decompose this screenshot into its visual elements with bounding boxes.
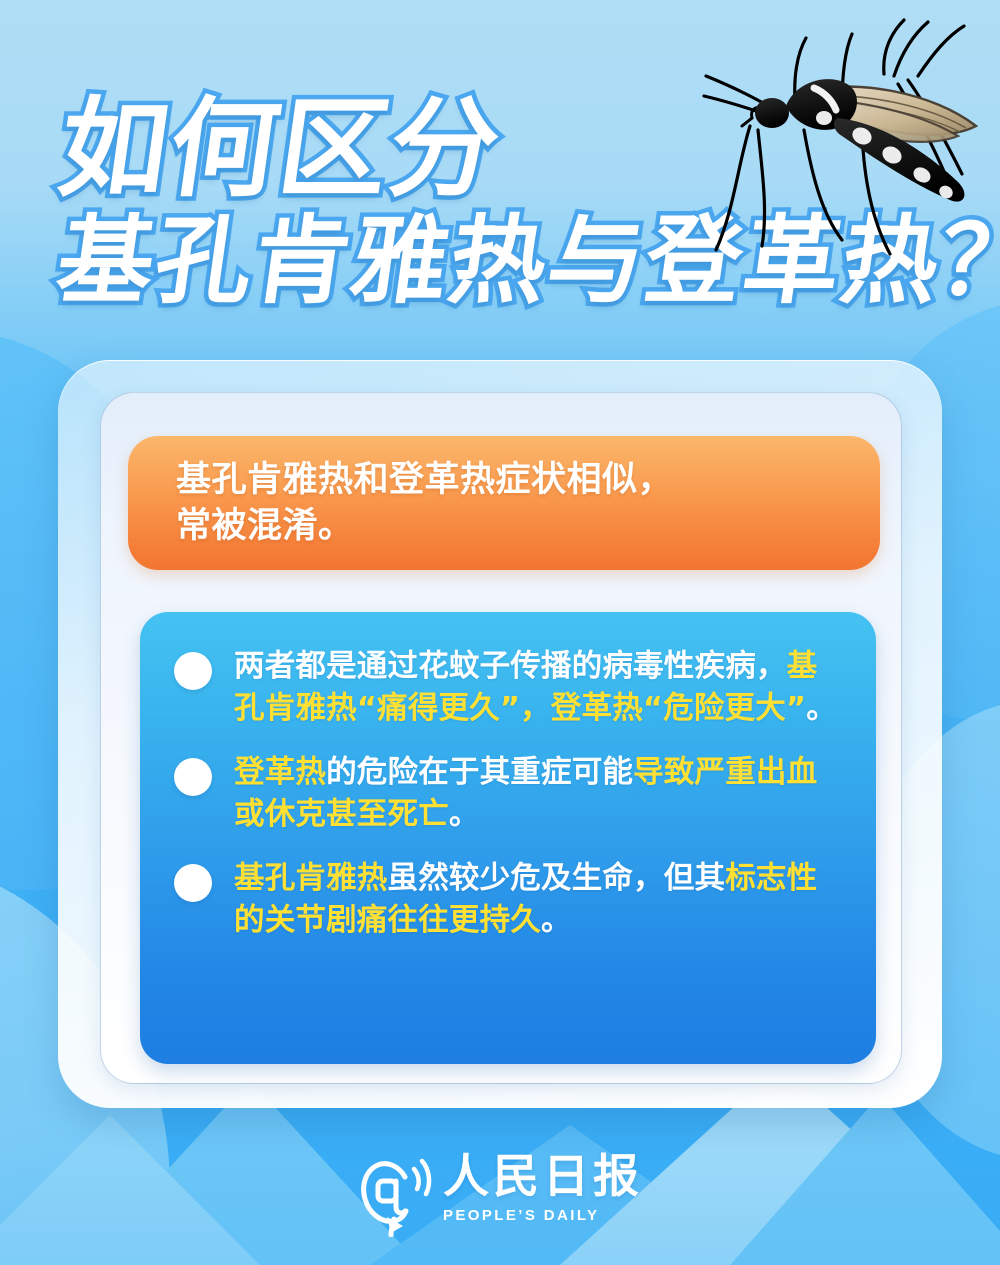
summary-banner-text: 基孔肯雅热和登革热症状相似， 常被混淆。 — [176, 457, 673, 549]
bullet-dot-icon — [174, 758, 212, 796]
list-item: 两者都是通过花蚊子传播的病毒性疾病，基孔肯雅热“痛得更久”，登革热“危险更大”。 — [170, 646, 846, 730]
body-text: 两者都是通过花蚊子传播的病毒性疾病， — [234, 649, 787, 684]
facts-panel: 两者都是通过花蚊子传播的病毒性疾病，基孔肯雅热“痛得更久”，登革热“危险更大”。… — [140, 612, 876, 1064]
summary-banner: 基孔肯雅热和登革热症状相似， 常被混淆。 — [128, 436, 880, 570]
list-item: 登革热的危险在于其重症可能导致严重出血或休克甚至死亡。 — [170, 752, 846, 836]
brand-name-en: PEOPLE’S DAILY — [443, 1207, 643, 1224]
mosquito-icon — [646, 14, 1000, 314]
body-text: 。 — [541, 903, 572, 938]
footer-logo: 人民日报 PEOPLE’S DAILY — [0, 1153, 1000, 1237]
list-item: 基孔肯雅热虽然较少危及生命，但其标志性的关节剧痛往往更持久。 — [170, 858, 846, 942]
fact-text-2: 登革热的危险在于其重症可能导致严重出血或休克甚至死亡。 — [234, 752, 846, 836]
brand-name-cn: 人民日报 — [443, 1153, 643, 1199]
bullet-dot-icon — [174, 864, 212, 902]
body-text: 的危险在于其重症可能 — [326, 755, 633, 790]
at-sign-signal-icon — [357, 1153, 435, 1237]
highlight-text: 基孔肯雅热 — [234, 861, 388, 896]
poster-root: 如何区分 基孔肯雅热与登革热？ 基孔肯雅热和登革热症状相似， 常被混淆。 两者都… — [0, 0, 1000, 1265]
fact-text-1: 两者都是通过花蚊子传播的病毒性疾病，基孔肯雅热“痛得更久”，登革热“危险更大”。 — [234, 646, 846, 730]
highlight-text: 登革热 — [234, 755, 326, 790]
bullet-dot-icon — [174, 652, 212, 690]
fact-text-3: 基孔肯雅热虽然较少危及生命，但其标志性的关节剧痛往往更持久。 — [234, 858, 846, 942]
body-text: 。 — [806, 691, 837, 726]
body-text: 虽然较少危及生命，但其 — [388, 861, 726, 896]
body-text: 。 — [449, 797, 480, 832]
